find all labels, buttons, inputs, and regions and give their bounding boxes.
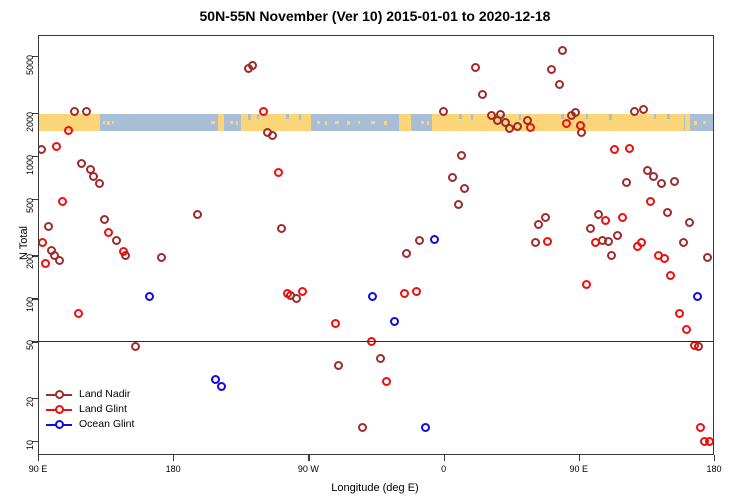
y-tick-label: 2000 bbox=[25, 112, 35, 136]
x-tick bbox=[714, 455, 715, 461]
x-tick bbox=[38, 455, 39, 461]
legend-marker-icon bbox=[55, 405, 64, 414]
x-tick-label: 180 bbox=[692, 464, 736, 474]
y-tick-label: 1000 bbox=[25, 155, 35, 179]
legend-label: Ocean Glint bbox=[79, 417, 134, 432]
chart-canvas: 50N-55N November (Ver 10) 2015-01-01 to … bbox=[0, 0, 750, 500]
x-tick bbox=[579, 455, 580, 461]
y-tick-label: 50 bbox=[25, 340, 35, 364]
x-tick-label: 90 E bbox=[16, 464, 60, 474]
legend-marker-icon bbox=[55, 420, 64, 429]
y-tick-label: 20 bbox=[25, 397, 35, 421]
legend-label: Land Nadir bbox=[79, 387, 130, 402]
x-axis-label: Longitude (deg E) bbox=[0, 482, 750, 494]
plot-frame bbox=[38, 35, 714, 455]
y-tick-label: 5000 bbox=[25, 55, 35, 79]
x-tick-label: 90 E bbox=[557, 464, 601, 474]
y-axis-label: N Total bbox=[18, 193, 30, 293]
y-tick-label: 10 bbox=[25, 440, 35, 464]
x-tick-label: 90 W bbox=[286, 464, 330, 474]
page-title: 50N-55N November (Ver 10) 2015-01-01 to … bbox=[0, 8, 750, 24]
legend-label: Land Glint bbox=[79, 402, 127, 417]
x-tick-label: 180 bbox=[151, 464, 195, 474]
legend-marker-icon bbox=[55, 390, 64, 399]
x-tick bbox=[308, 455, 309, 461]
x-tick bbox=[444, 455, 445, 461]
x-tick bbox=[173, 455, 174, 461]
y-tick-label: 100 bbox=[25, 297, 35, 321]
x-tick-label: 0 bbox=[422, 464, 466, 474]
